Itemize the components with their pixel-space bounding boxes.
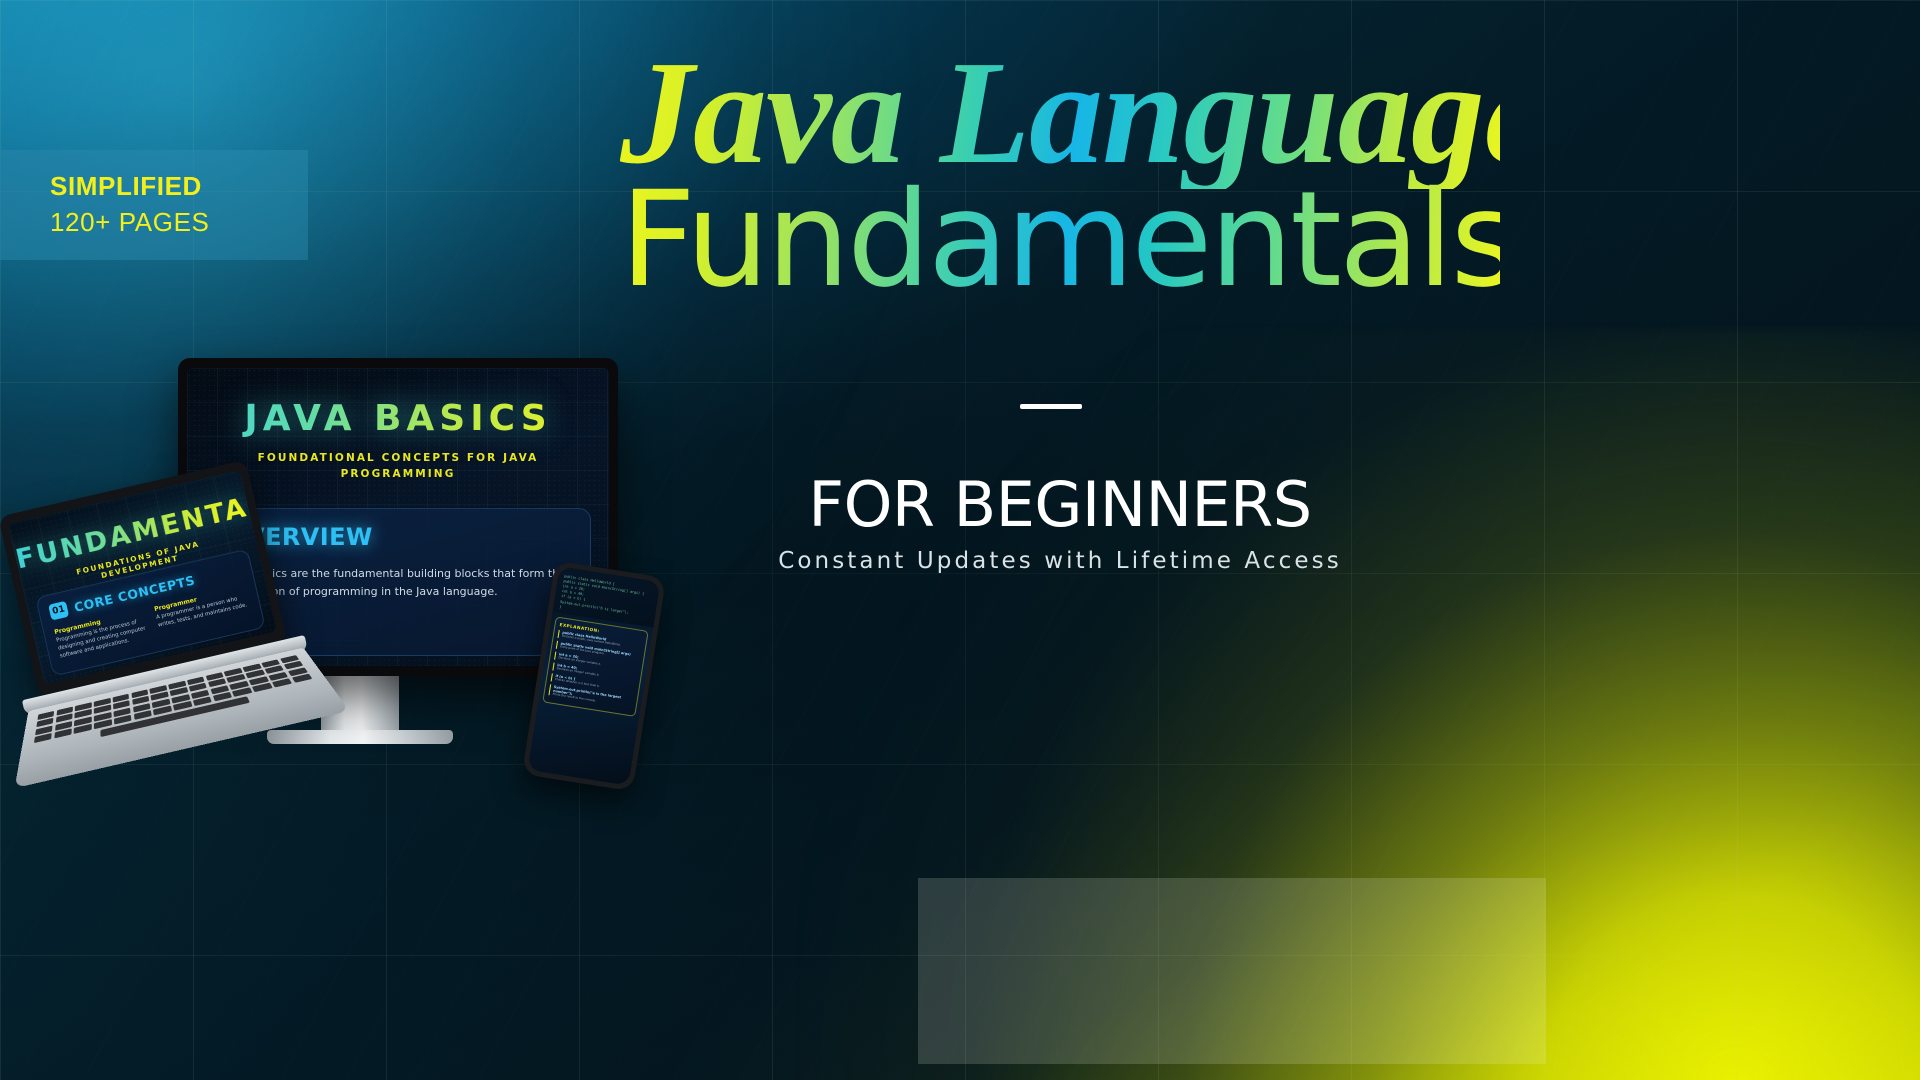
translucent-panel [918,878,1546,1064]
laptop-mockup: FUNDAMENTALS FOUNDATIONS OF JAVA DEVELOP… [0,447,370,814]
hero-subheading: FOR BEGINNERS [620,468,1500,541]
hero-title-block: Java Language Fundamentals [620,38,1500,304]
hero-banner: SIMPLIFIED 120+ PAGES Java Language Fund… [0,0,1920,1080]
laptop-section-number: 01 [48,601,69,621]
page-title-sans: Fundamentals [620,177,1500,304]
device-mockups: JAVA BASICS FOUNDATIONAL CONCEPTS FOR JA… [0,330,720,850]
badge-line-1: SIMPLIFIED [50,169,308,205]
hero-tagline: Constant Updates with Lifetime Access [620,548,1500,574]
badge-line-2: 120+ PAGES [50,205,308,241]
simplified-badge: SIMPLIFIED 120+ PAGES [0,150,308,260]
phone-explanation-card: EXPLANATION: public class HelloWorld Dec… [542,616,649,717]
monitor-title: JAVA BASICS [187,398,609,439]
title-divider [1020,404,1082,409]
